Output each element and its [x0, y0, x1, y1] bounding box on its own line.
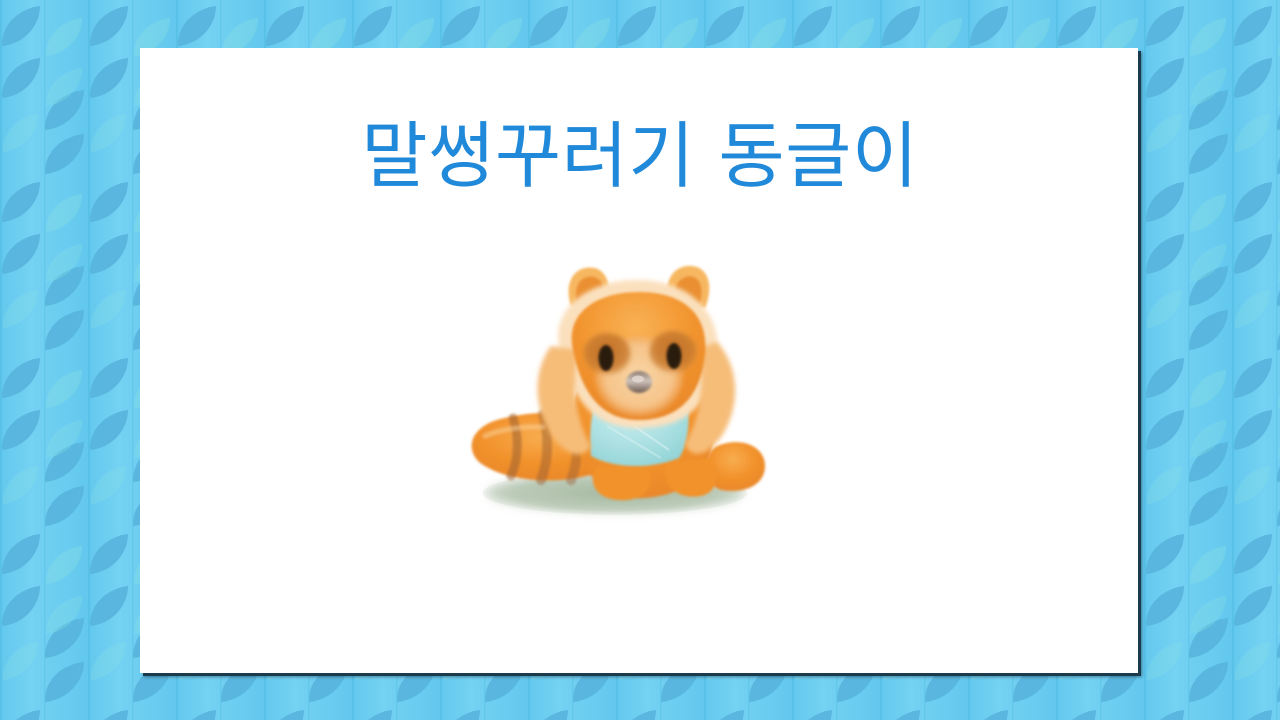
eye-left — [599, 345, 614, 371]
head — [538, 266, 736, 454]
nose — [626, 371, 652, 393]
rear-foot-right — [707, 442, 765, 491]
red-panda-illustration — [455, 250, 785, 530]
slide-canvas: 말썽꾸러기 동글이 — [0, 0, 1280, 720]
eye-right — [667, 343, 682, 369]
